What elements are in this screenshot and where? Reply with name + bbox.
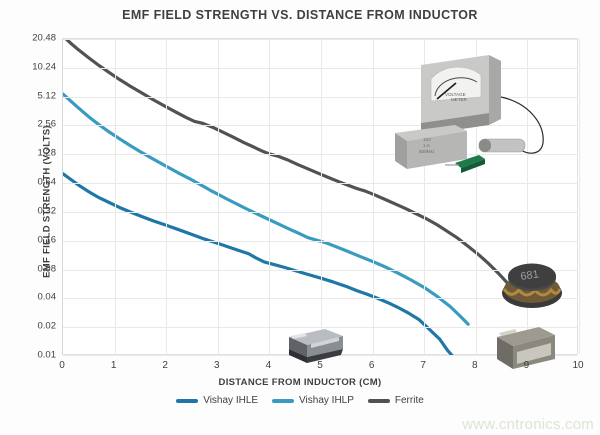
legend-label: Ferrite	[395, 395, 424, 406]
chart-title: EMF FIELD STRENGTH VS. DISTANCE FROM IND…	[0, 8, 600, 22]
x-tick-label: 9	[524, 360, 530, 371]
x-tick-label: 0	[59, 360, 65, 371]
x-tick-label: 1	[111, 360, 117, 371]
watermark: www.cntronics.com	[462, 416, 594, 433]
x-tick-label: 2	[162, 360, 168, 371]
svg-text:681: 681	[520, 269, 540, 283]
gridline-vertical	[166, 39, 167, 354]
y-tick-label: 5.12	[38, 90, 57, 101]
y-tick-label: 2.56	[38, 119, 57, 130]
gridline-horizontal	[63, 212, 577, 213]
legend-entry[interactable]: Ferrite	[368, 395, 424, 406]
x-tick-label: 7	[420, 360, 426, 371]
legend-entry[interactable]: Vishay IHLP	[272, 395, 354, 406]
legend-swatch	[368, 399, 390, 403]
low-profile-inductor-photo	[285, 323, 347, 367]
gridline-vertical	[579, 39, 580, 354]
emf-field-strength-chart: EMF FIELD STRENGTH VS. DISTANCE FROM IND…	[0, 0, 600, 435]
gridline-vertical	[321, 39, 322, 354]
gridline-horizontal	[63, 183, 577, 184]
svg-text:12V: 12V	[423, 137, 432, 142]
plot-area: VOLTAGE METER 12V 1 A 500kHz	[62, 38, 578, 355]
y-tick-label: 0.08	[38, 263, 57, 274]
x-tick-label: 8	[472, 360, 478, 371]
gridline-horizontal	[63, 241, 577, 242]
voltage-meter-setup-illustration: VOLTAGE METER 12V 1 A 500kHz	[393, 51, 573, 181]
y-axis-title: EMF FIELD STRENGTH (VOLTS)	[42, 77, 53, 327]
x-tick-label: 5	[317, 360, 323, 371]
legend-swatch	[272, 399, 294, 403]
y-tick-label: 0.02	[38, 321, 57, 332]
x-tick-label: 6	[369, 360, 375, 371]
svg-text:500kHz: 500kHz	[419, 149, 435, 154]
drum-ferrite-inductor-photo: 681	[499, 255, 565, 311]
gridline-horizontal	[63, 39, 577, 40]
y-tick-label: 1.28	[38, 148, 57, 159]
y-tick-label: 0.04	[38, 292, 57, 303]
gridline-vertical	[218, 39, 219, 354]
x-axis-title: DISTANCE FROM INDUCTOR (CM)	[0, 377, 600, 388]
y-tick-label: 0.01	[38, 350, 57, 361]
gridline-vertical	[115, 39, 116, 354]
y-tick-label: 0.32	[38, 205, 57, 216]
y-tick-label: 0.16	[38, 234, 57, 245]
gridline-vertical	[269, 39, 270, 354]
legend-label: Vishay IHLE	[203, 395, 258, 406]
x-tick-label: 3	[214, 360, 220, 371]
y-tick-label: 10.24	[32, 61, 56, 72]
svg-text:METER: METER	[451, 97, 468, 102]
series-line	[63, 174, 453, 356]
x-tick-label: 10	[572, 360, 583, 371]
chart-legend: Vishay IHLEVishay IHLPFerrite	[0, 395, 600, 406]
svg-text:1 A: 1 A	[423, 143, 431, 148]
legend-label: Vishay IHLP	[299, 395, 354, 406]
x-tick-label: 4	[266, 360, 272, 371]
y-tick-label: 20.48	[32, 33, 56, 44]
gridline-vertical	[373, 39, 374, 354]
legend-swatch	[176, 399, 198, 403]
legend-entry[interactable]: Vishay IHLE	[176, 395, 258, 406]
y-tick-label: 0.64	[38, 177, 57, 188]
